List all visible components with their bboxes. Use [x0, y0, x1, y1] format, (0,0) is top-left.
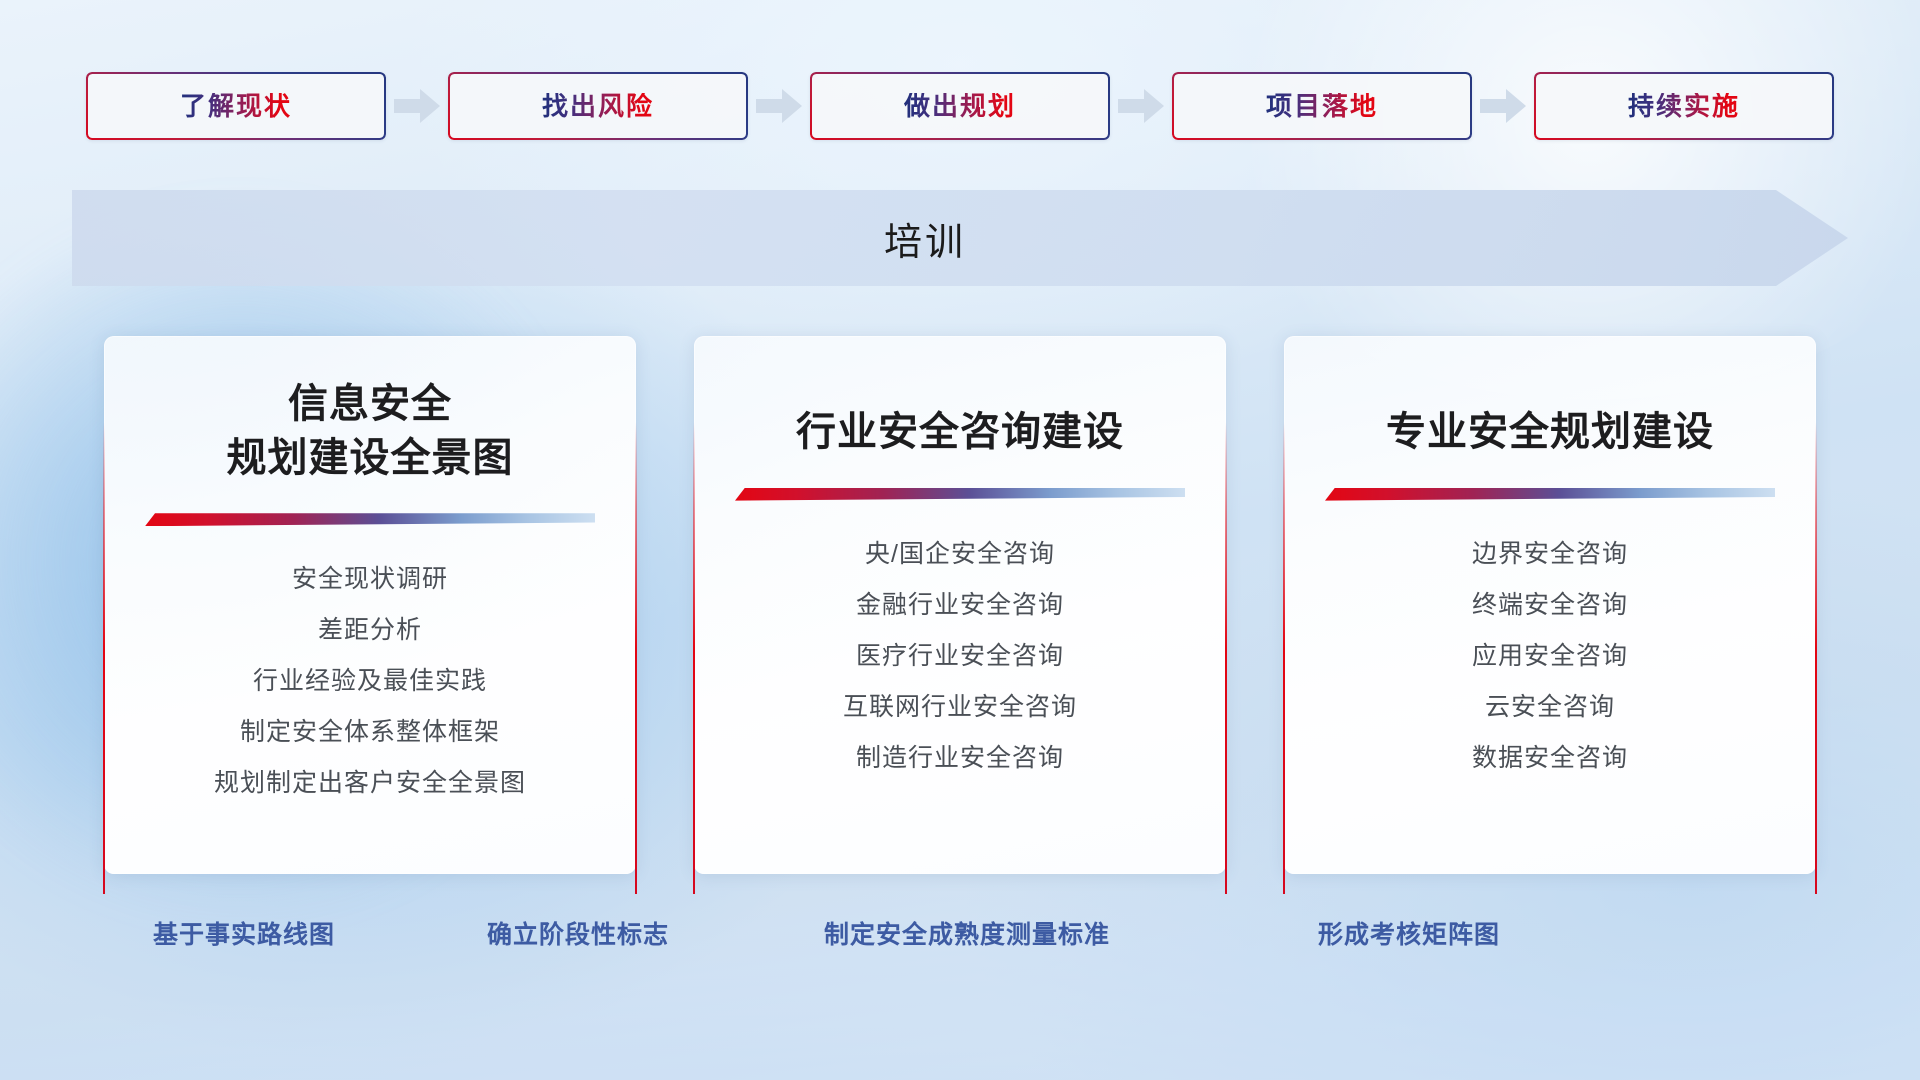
step-label-5: 持续实施 — [1628, 93, 1740, 119]
list-item: 互联网行业安全咨询 — [843, 682, 1077, 733]
list-item: 云安全咨询 — [1485, 682, 1615, 733]
step-box-2[interactable]: 找出风险 — [448, 72, 748, 140]
list-item: 制定安全体系整体框架 — [240, 707, 500, 758]
service-card-2[interactable]: 行业安全咨询建设 央/国企安全咨询 金融行业安全咨询 医疗行业安全咨询 互联网行… — [694, 336, 1226, 874]
arrow-right-icon — [748, 72, 810, 140]
arrow-right-icon — [386, 72, 448, 140]
process-step-row: 了解现状 找出风险 做出规划 项目落地 持续实施 — [0, 66, 1920, 146]
list-item: 行业经验及最佳实践 — [253, 656, 487, 707]
card-list-3: 边界安全咨询 终端安全咨询 应用安全咨询 云安全咨询 数据安全咨询 — [1472, 529, 1628, 784]
arrow-right-icon — [1110, 72, 1172, 140]
caption-2: 确立阶段性标志 — [487, 915, 669, 951]
training-banner: 培训 — [72, 190, 1848, 286]
service-card-3[interactable]: 专业安全规划建设 边界安全咨询 终端安全咨询 应用安全咨询 云安全咨询 数据安全… — [1284, 336, 1816, 874]
list-item: 差距分析 — [318, 605, 422, 656]
step-box-5[interactable]: 持续实施 — [1534, 72, 1834, 140]
list-item: 应用安全咨询 — [1472, 631, 1628, 682]
list-item: 终端安全咨询 — [1472, 580, 1628, 631]
card-list-1: 安全现状调研 差距分析 行业经验及最佳实践 制定安全体系整体框架 规划制定出客户… — [214, 554, 526, 809]
caption-3: 制定安全成熟度测量标准 — [824, 915, 1110, 951]
step-label-3: 做出规划 — [904, 93, 1016, 119]
list-item: 金融行业安全咨询 — [856, 580, 1064, 631]
step-label-2: 找出风险 — [542, 93, 654, 119]
step-box-4[interactable]: 项目落地 — [1172, 72, 1472, 140]
service-card-1[interactable]: 信息安全 规划建设全景图 安全现状调研 差距分析 行业经验及最佳实践 制定安全体… — [104, 336, 636, 874]
card-divider-2 — [735, 488, 1185, 501]
list-item: 安全现状调研 — [292, 554, 448, 605]
list-item: 央/国企安全咨询 — [865, 529, 1055, 580]
step-box-1[interactable]: 了解现状 — [86, 72, 386, 140]
list-item: 边界安全咨询 — [1472, 529, 1628, 580]
training-title: 培训 — [72, 190, 1848, 286]
caption-4: 形成考核矩阵图 — [1318, 915, 1500, 951]
caption-row: 基于事实路线图 确立阶段性标志 制定安全成熟度测量标准 形成考核矩阵图 — [0, 915, 1920, 959]
list-item: 医疗行业安全咨询 — [856, 631, 1064, 682]
caption-1: 基于事实路线图 — [153, 915, 335, 951]
step-label-1: 了解现状 — [180, 93, 292, 119]
service-cards-row: 信息安全 规划建设全景图 安全现状调研 差距分析 行业经验及最佳实践 制定安全体… — [0, 336, 1920, 876]
card-title-2: 行业安全咨询建设 — [796, 406, 1124, 460]
list-item: 规划制定出客户安全全景图 — [214, 758, 526, 809]
list-item: 数据安全咨询 — [1472, 733, 1628, 784]
card-title-3: 专业安全规划建设 — [1386, 406, 1714, 460]
card-list-2: 央/国企安全咨询 金融行业安全咨询 医疗行业安全咨询 互联网行业安全咨询 制造行… — [843, 529, 1077, 784]
arrow-right-icon — [1472, 72, 1534, 140]
list-item: 制造行业安全咨询 — [856, 733, 1064, 784]
card-divider-1 — [145, 513, 595, 526]
step-box-3[interactable]: 做出规划 — [810, 72, 1110, 140]
card-divider-3 — [1325, 488, 1775, 501]
step-label-4: 项目落地 — [1266, 93, 1378, 119]
card-title-1: 信息安全 规划建设全景图 — [227, 378, 514, 485]
